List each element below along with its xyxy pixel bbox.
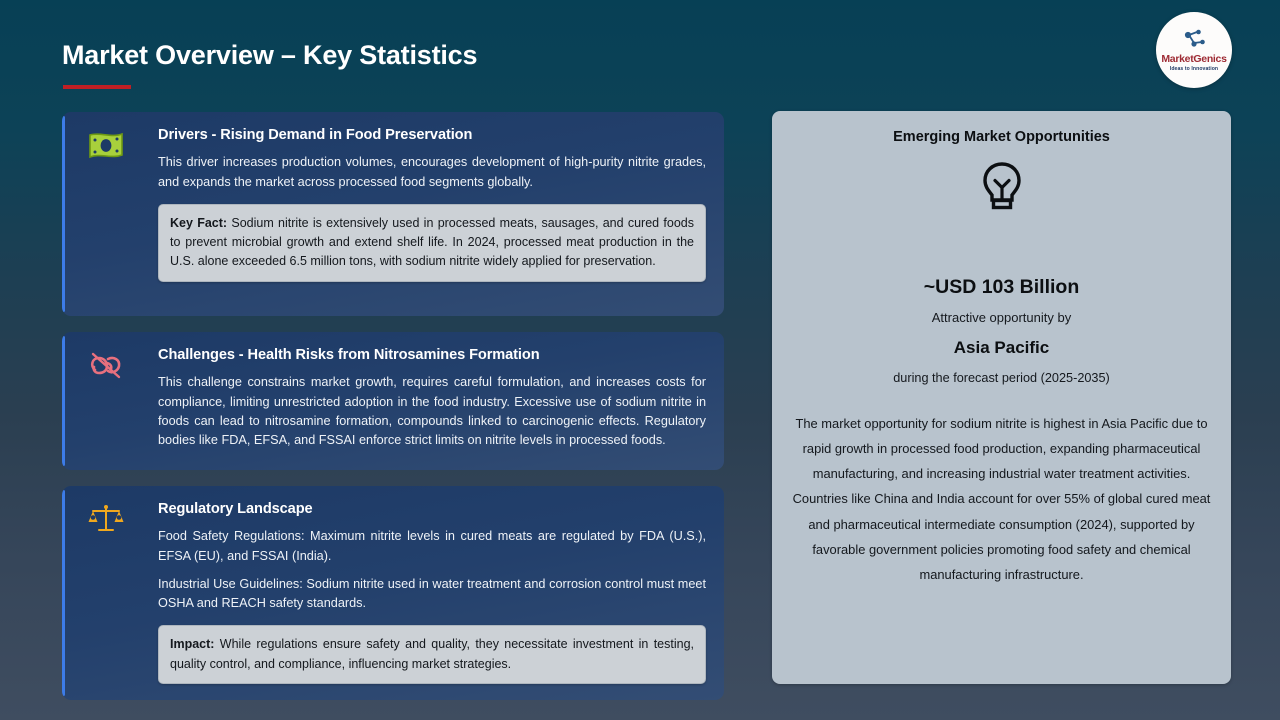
opportunity-forecast-period: during the forecast period (2025-2035) (786, 371, 1217, 385)
callout-label: Key Fact: (170, 216, 227, 230)
balance-scales-icon (88, 502, 124, 536)
opportunity-description: The market opportunity for sodium nitrit… (786, 411, 1217, 587)
callout-label: Impact: (170, 637, 214, 651)
card-drivers[interactable]: Drivers - Rising Demand in Food Preserva… (62, 112, 724, 316)
impact-callout: Impact: While regulations ensure safety … (158, 625, 706, 684)
broken-link-icon (88, 348, 124, 382)
brand-logo: MarketGenics Ideas to Innovation (1156, 12, 1232, 88)
card-challenges[interactable]: Challenges - Health Risks from Nitrosami… (62, 332, 724, 470)
callout-text: Sodium nitrite is extensively used in pr… (170, 216, 694, 269)
page-title: Market Overview – Key Statistics (62, 40, 477, 71)
card-title: Drivers - Rising Demand in Food Preserva… (158, 126, 706, 144)
panel-icon-wrap (786, 161, 1217, 213)
callout-text: While regulations ensure safety and qual… (170, 637, 694, 670)
molecule-network-icon (1181, 29, 1207, 53)
emerging-opportunities-panel: Emerging Market Opportunities ~USD 103 B… (772, 111, 1231, 684)
card-body-text-secondary: Industrial Use Guidelines: Sodium nitrit… (158, 575, 706, 614)
panel-title: Emerging Market Opportunities (786, 129, 1217, 145)
card-title: Challenges - Health Risks from Nitrosami… (158, 346, 706, 364)
money-banknote-icon (88, 128, 124, 162)
opportunity-sub-label: Attractive opportunity by (786, 310, 1217, 325)
card-regulatory[interactable]: Regulatory Landscape Food Safety Regulat… (62, 486, 724, 700)
card-title: Regulatory Landscape (158, 500, 706, 518)
insight-cards-column: Drivers - Rising Demand in Food Preserva… (62, 112, 724, 716)
logo-name: MarketGenics (1161, 54, 1226, 65)
opportunity-value: ~USD 103 Billion (786, 276, 1217, 299)
opportunity-region: Asia Pacific (786, 338, 1217, 358)
card-body-text: Food Safety Regulations: Maximum nitrite… (158, 527, 706, 566)
logo-tagline: Ideas to Innovation (1170, 66, 1218, 72)
card-body-text: This challenge constrains market growth,… (158, 373, 706, 450)
title-underline-accent (63, 85, 131, 89)
key-fact-callout: Key Fact: Sodium nitrite is extensively … (158, 204, 706, 282)
card-body-text: This driver increases production volumes… (158, 153, 706, 192)
lightbulb-icon (978, 161, 1026, 213)
